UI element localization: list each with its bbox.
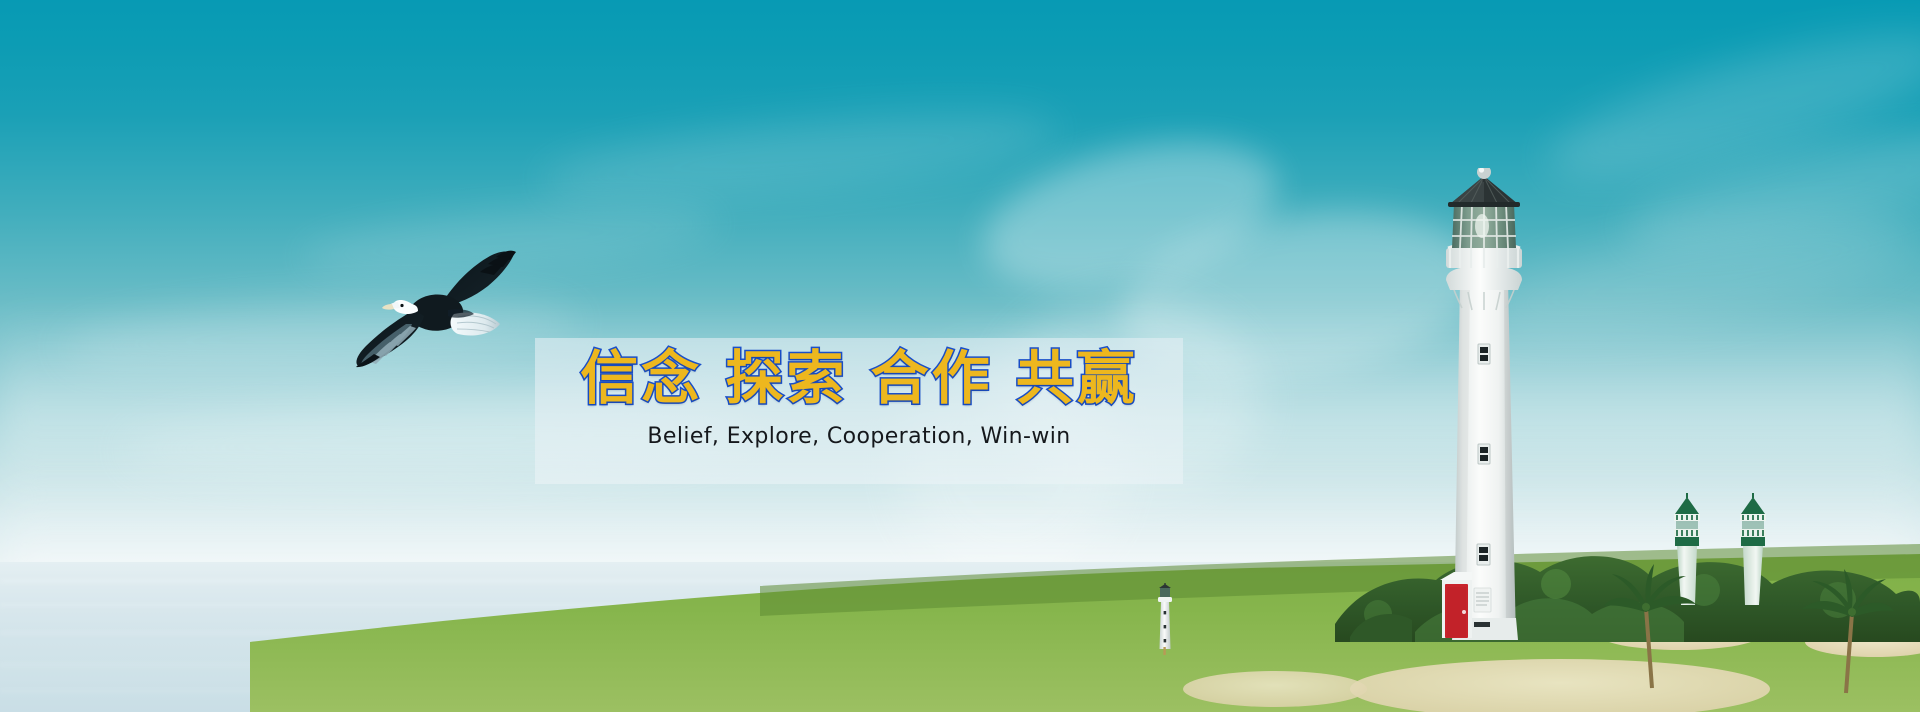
lighthouse-main <box>1424 168 1544 648</box>
banner-stage: 信念 探索 合作 共赢 Belief, Explore, Cooperation… <box>0 0 1920 712</box>
palm-tree-left <box>1600 560 1710 690</box>
lighthouse-distant <box>1150 583 1180 655</box>
palm-tree-right <box>1790 565 1900 695</box>
headline-english: Belief, Explore, Cooperation, Win-win <box>647 424 1070 449</box>
bald-eagle <box>348 238 528 378</box>
headline-chinese: 信念 探索 合作 共赢 <box>580 344 1138 412</box>
headline-panel: 信念 探索 合作 共赢 Belief, Explore, Cooperation… <box>535 338 1183 484</box>
